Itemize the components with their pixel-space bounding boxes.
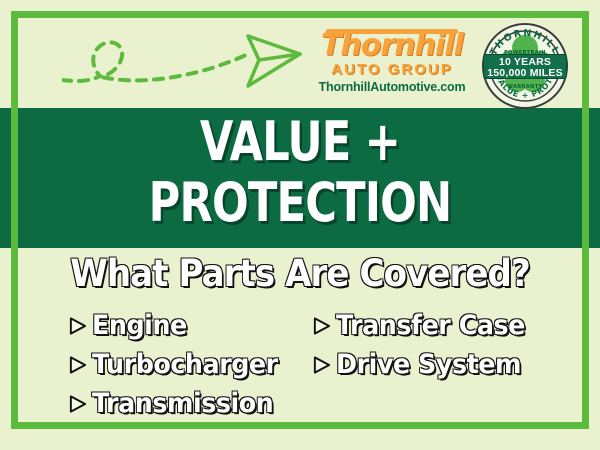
parts-column-left: Engine Turbocharger Transmission <box>68 306 290 423</box>
title-line-1: VALUE + <box>60 112 540 172</box>
part-label: Drive System <box>336 350 521 380</box>
logo-brand: Thornhill <box>312 30 472 62</box>
part-label: Turbocharger <box>92 350 278 380</box>
list-item: Transmission <box>68 384 290 423</box>
covered-parts-list: Engine Turbocharger Transmission Tra <box>0 306 600 424</box>
list-item: Engine <box>68 306 290 345</box>
list-item: Turbocharger <box>68 345 290 384</box>
ad-header: Thornhill AUTO GROUP ThornhillAutomotive… <box>0 0 600 108</box>
svg-text:WARRANTY: WARRANTY <box>507 84 542 90</box>
parts-column-right: Transfer Case Drive System <box>312 306 537 384</box>
triangle-right-icon <box>312 316 331 336</box>
warranty-badge: THORNHILL VALUE + PROTECTION POWERTRAIN … <box>481 22 569 110</box>
logo-website[interactable]: ThornhillAutomotive.com <box>312 80 472 94</box>
title-line-2: PROTECTION <box>60 172 540 234</box>
list-item: Transfer Case <box>312 306 537 345</box>
part-label: Transfer Case <box>336 311 525 341</box>
value-protection-ad: Thornhill AUTO GROUP ThornhillAutomotive… <box>0 0 600 450</box>
logo-subtitle: AUTO GROUP <box>312 61 472 78</box>
list-item: Drive System <box>312 345 537 384</box>
triangle-right-icon <box>68 316 87 336</box>
dashed-loop-arrow-icon <box>62 24 302 96</box>
thornhill-logo[interactable]: Thornhill AUTO GROUP ThornhillAutomotive… <box>312 26 472 102</box>
badge-term-banner: 10 YEARS 150,000 MILES <box>483 54 567 79</box>
part-label: Engine <box>92 311 187 341</box>
part-label: Transmission <box>92 389 273 419</box>
logo-overline <box>326 29 458 34</box>
badge-miles: 150,000 MILES <box>484 68 566 79</box>
triangle-right-icon <box>68 355 87 375</box>
triangle-right-icon <box>68 394 87 414</box>
coverage-question: What Parts Are Covered? <box>24 251 576 297</box>
triangle-right-icon <box>312 355 331 375</box>
ad-title: VALUE + PROTECTION <box>0 112 600 234</box>
